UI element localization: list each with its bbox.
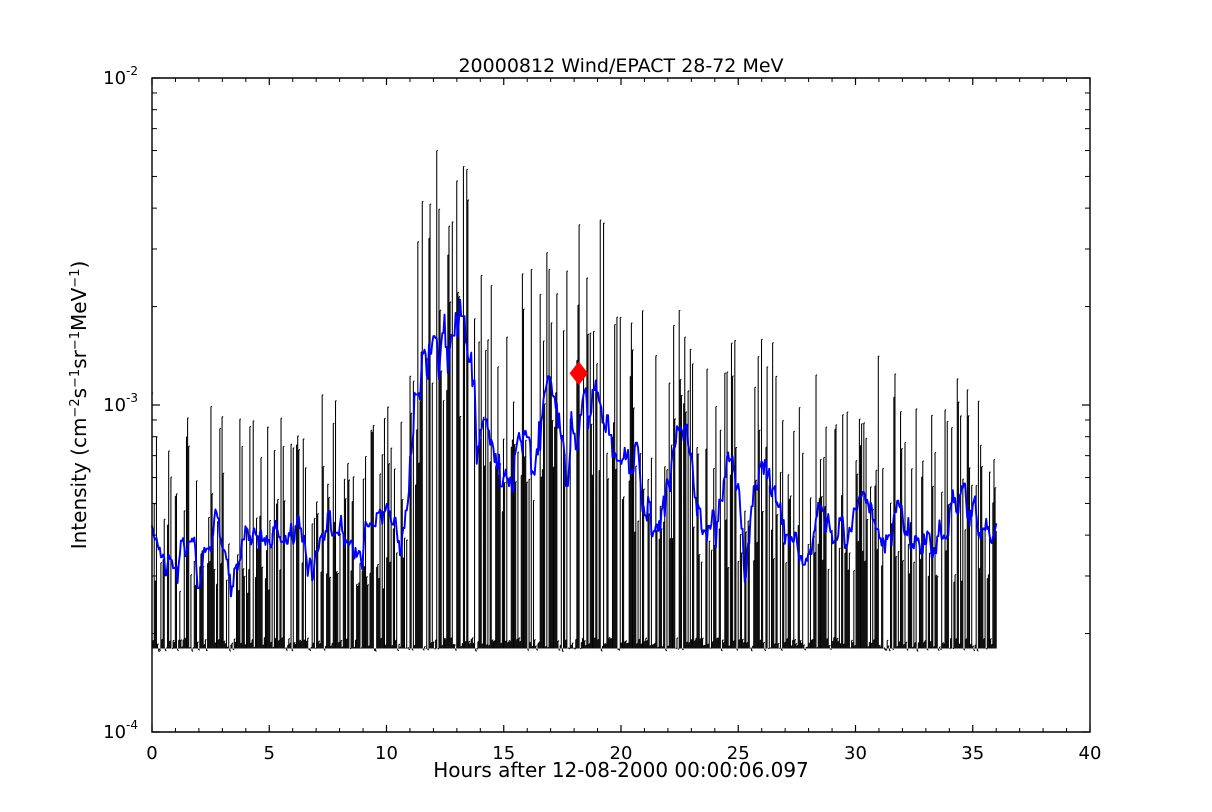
y-label-unit3: MeV — [67, 287, 91, 331]
axes-background — [152, 78, 1090, 732]
x-tick-label: 40 — [1079, 743, 1102, 764]
y-label-suffix: ) — [67, 261, 91, 269]
x-tick-label: 30 — [844, 743, 867, 764]
y-label-exp3: −1 — [68, 331, 83, 350]
y-label-exp1: −2 — [68, 398, 83, 417]
plot-svg: 051015202530354010-410-310-2 20000812 Wi… — [0, 0, 1212, 812]
x-tick-label: 5 — [264, 743, 275, 764]
y-label-unit1: s — [67, 388, 91, 398]
y-label-prefix: Intensity (cm — [67, 418, 91, 550]
y-label-unit2: sr — [67, 349, 91, 368]
x-tick-label: 10 — [375, 743, 398, 764]
x-tick-label: 0 — [146, 743, 157, 764]
y-label-exp4: −1 — [68, 269, 83, 288]
y-label-exp2: −1 — [68, 369, 83, 388]
figure-canvas: 051015202530354010-410-310-2 20000812 Wi… — [0, 0, 1212, 812]
plot-area — [152, 78, 1090, 732]
page-title: 20000812 Wind/EPACT 28-72 MeV — [458, 55, 783, 77]
x-axis-label: Hours after 12-08-2000 00:00:06.097 — [433, 758, 809, 782]
x-tick-label: 35 — [961, 743, 984, 764]
